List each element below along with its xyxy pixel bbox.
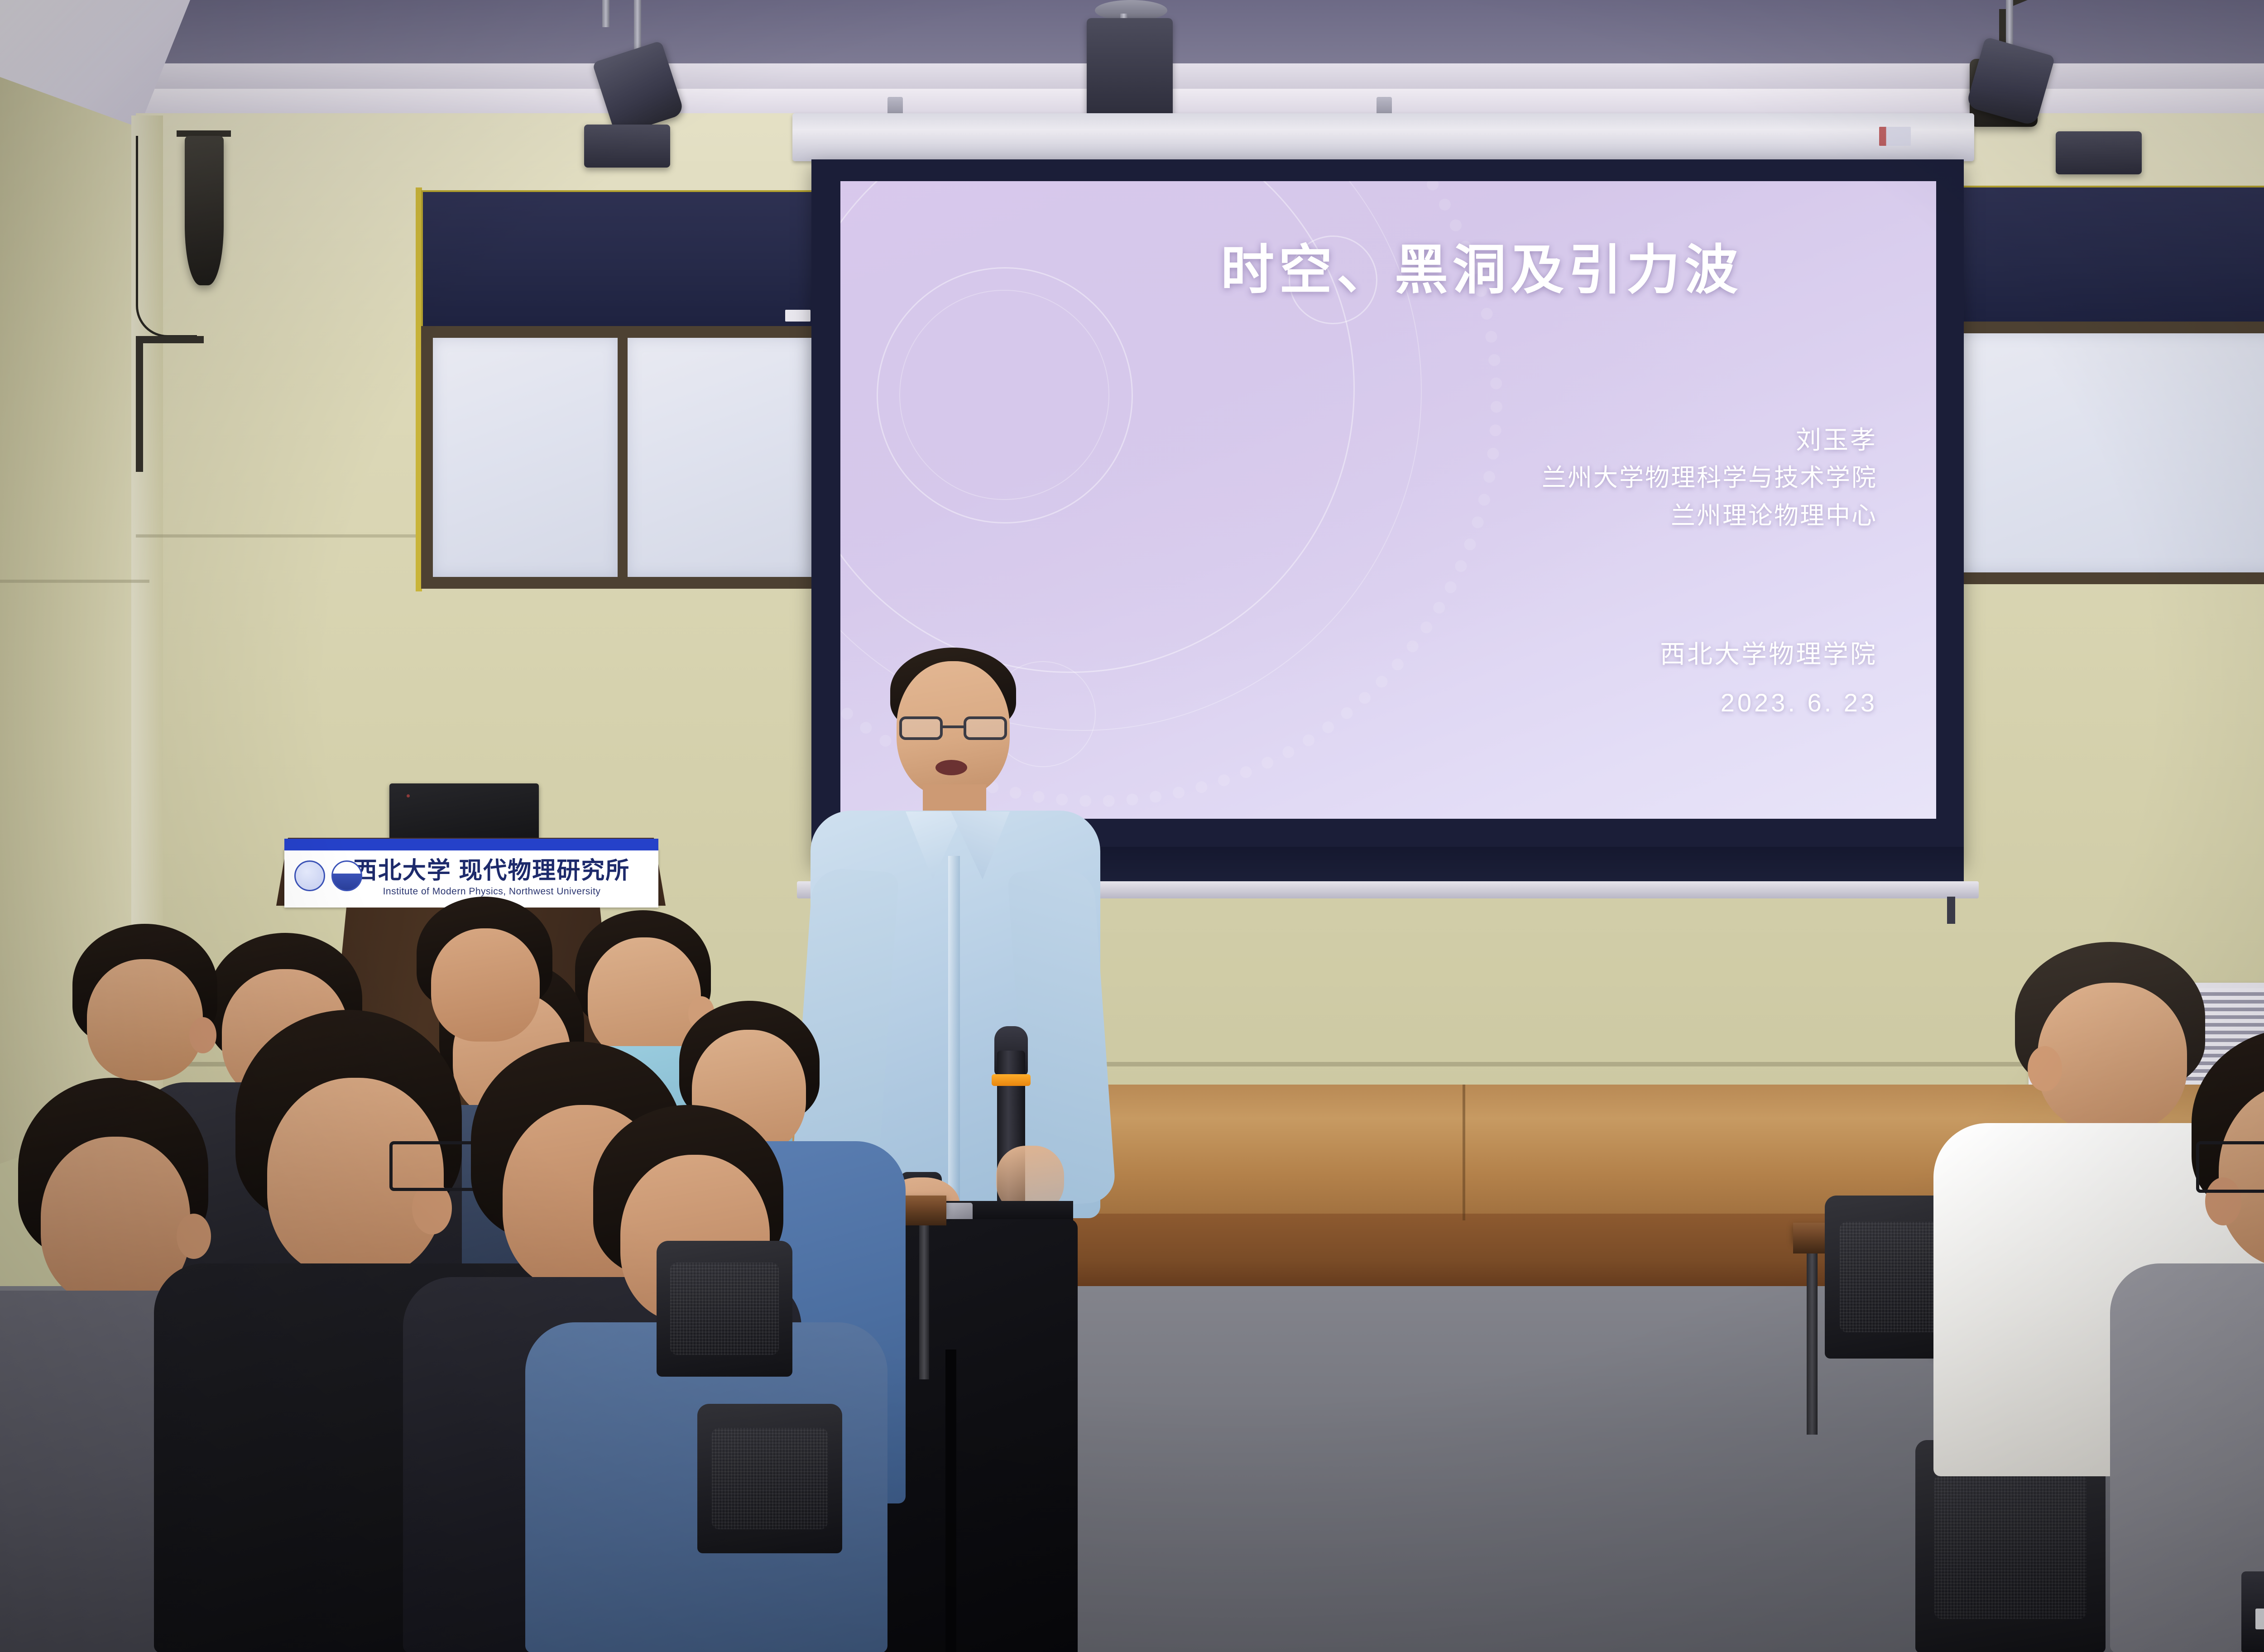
laptop-icon-right[interactable] xyxy=(2241,1571,2264,1652)
desk-leg xyxy=(1807,1253,1818,1435)
window-pane xyxy=(628,338,812,577)
audience-torso xyxy=(2110,1263,2264,1652)
audience-ear xyxy=(2028,1046,2062,1091)
glasses-bridge xyxy=(943,725,964,728)
glasses-lens-right xyxy=(964,716,1007,740)
ceiling-speaker-icon-right xyxy=(2056,131,2142,174)
audience-glasses xyxy=(2196,1141,2264,1193)
ceiling-cornice-upper xyxy=(136,63,2264,91)
screen-rail-leg-right xyxy=(1947,897,1955,924)
audience-back-left-2 xyxy=(45,924,254,1259)
ceiling-mount-rod xyxy=(602,0,609,27)
presenter-mouth xyxy=(935,760,967,775)
ceiling-cornice-lower xyxy=(115,89,2264,117)
ceiling-recess xyxy=(149,0,2264,68)
institute-logo-icon xyxy=(331,860,362,891)
podium-banner-accent xyxy=(284,839,658,850)
ceiling-speaker-icon xyxy=(584,125,670,168)
speaker-bracket-left-vert xyxy=(136,336,143,472)
chair-midleft[interactable] xyxy=(657,1241,792,1377)
podium-banner-english: Institute of Modern Physics, Northwest U… xyxy=(383,886,601,897)
stage-seam xyxy=(1463,1085,1465,1220)
slide-speaker-name: 刘玉孝 xyxy=(1311,421,1877,459)
projector-screen-housing[interactable] xyxy=(792,113,1974,161)
presenter-leg-gap xyxy=(945,1349,956,1652)
slide-date: 2023. 6. 23 xyxy=(1311,675,1877,730)
audience-gray-tee xyxy=(2142,1028,2264,1652)
chair-mesh xyxy=(670,1263,779,1355)
audience-blue-polo xyxy=(552,1105,842,1652)
glasses-lens-left xyxy=(899,716,943,740)
lecture-hall-scene: 时空、黑洞及引力波 刘玉孝 兰州大学物理科学与技术学院 兰州理论物理中心 西北大… xyxy=(0,0,2264,1652)
wall-seam-left xyxy=(0,580,149,583)
podium-logos xyxy=(294,860,362,891)
spotlight-rod-left xyxy=(634,0,641,54)
slide-affiliation-1: 兰州大学物理科学与技术学院 xyxy=(1311,459,1877,497)
chair-front-center[interactable] xyxy=(697,1404,842,1553)
slide-affiliation-2: 兰州理论物理中心 xyxy=(1311,497,1877,535)
screen-brand-label xyxy=(1879,127,1911,146)
window-blind-left[interactable] xyxy=(421,190,824,326)
slide-title: 时空、黑洞及引力波 xyxy=(1221,240,1900,302)
microphone-band xyxy=(992,1074,1031,1086)
slide-speaker-block: 刘玉孝 兰州大学物理科学与技术学院 兰州理论物理中心 xyxy=(1311,421,1877,535)
slide-host-block: 西北大学物理学院 2023. 6. 23 xyxy=(1311,634,1877,730)
podium-banner-chinese: 西北大学 现代物理研究所 xyxy=(354,859,630,883)
desk-leg xyxy=(919,1225,929,1379)
presenter-shirt-placket xyxy=(948,856,960,1209)
university-seal-icon xyxy=(294,860,325,891)
laptop-screen-strip xyxy=(2255,1609,2264,1629)
window-left xyxy=(421,190,824,589)
window-frame-left xyxy=(421,326,824,589)
projector-icon xyxy=(1087,18,1173,122)
chair-mesh xyxy=(712,1428,828,1529)
window-pane xyxy=(433,338,618,577)
chair-mesh xyxy=(1934,1474,2087,1619)
slide-host-institution: 西北大学物理学院 xyxy=(1311,634,1877,675)
speaker-bracket-left xyxy=(136,336,204,343)
presenter-glasses xyxy=(899,716,1007,740)
audience-ear xyxy=(189,1017,216,1053)
audience-head xyxy=(87,959,203,1081)
speaker-icon-left xyxy=(185,136,224,285)
audience-head xyxy=(431,928,540,1042)
spotlight-rod-right xyxy=(2006,0,2013,50)
